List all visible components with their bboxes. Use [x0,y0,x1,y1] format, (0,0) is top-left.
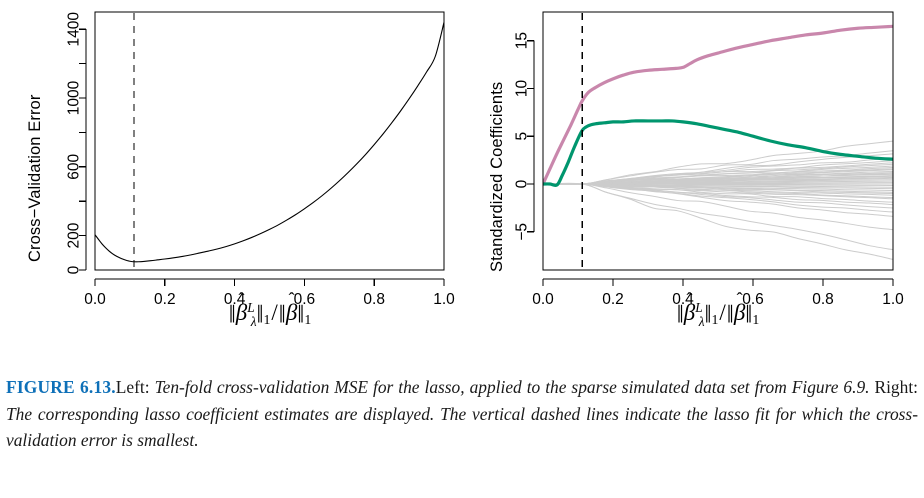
svg-text:−5: −5 [514,223,531,241]
x-axis-label-left: ‖β̂Lλ‖1/‖β̂‖1 [95,300,445,330]
svg-text:600: 600 [66,153,83,179]
svg-text:5: 5 [514,132,531,141]
svg-text:1000: 1000 [66,80,83,115]
caption-right-lead: Right: [870,377,918,397]
svg-text:15: 15 [514,32,531,49]
svg-text:200: 200 [66,222,83,248]
svg-text:0: 0 [66,265,83,274]
caption-right-text: The corresponding lasso coefficient esti… [6,404,918,451]
svg-text:10: 10 [514,79,531,97]
svg-text:0: 0 [514,179,531,188]
figure-caption: FIGURE 6.13.Left: Ten-fold cross-validat… [6,374,918,454]
figure-number: FIGURE 6.13. [6,377,116,397]
figure-page: 0.00.20.40.60.81.0020060010001400 Cross−… [0,0,924,498]
y-axis-label-left: Cross−Validation Error [26,95,45,262]
x-axis-label-right: ‖β̂Lλ‖1/‖β̂‖1 [543,300,893,330]
caption-left-lead: Left: [116,377,150,397]
svg-text:1400: 1400 [66,12,83,47]
caption-left-text: Ten-fold cross-validation MSE for the la… [150,377,870,397]
y-axis-label-right: Standardized Coefficients [488,82,507,272]
